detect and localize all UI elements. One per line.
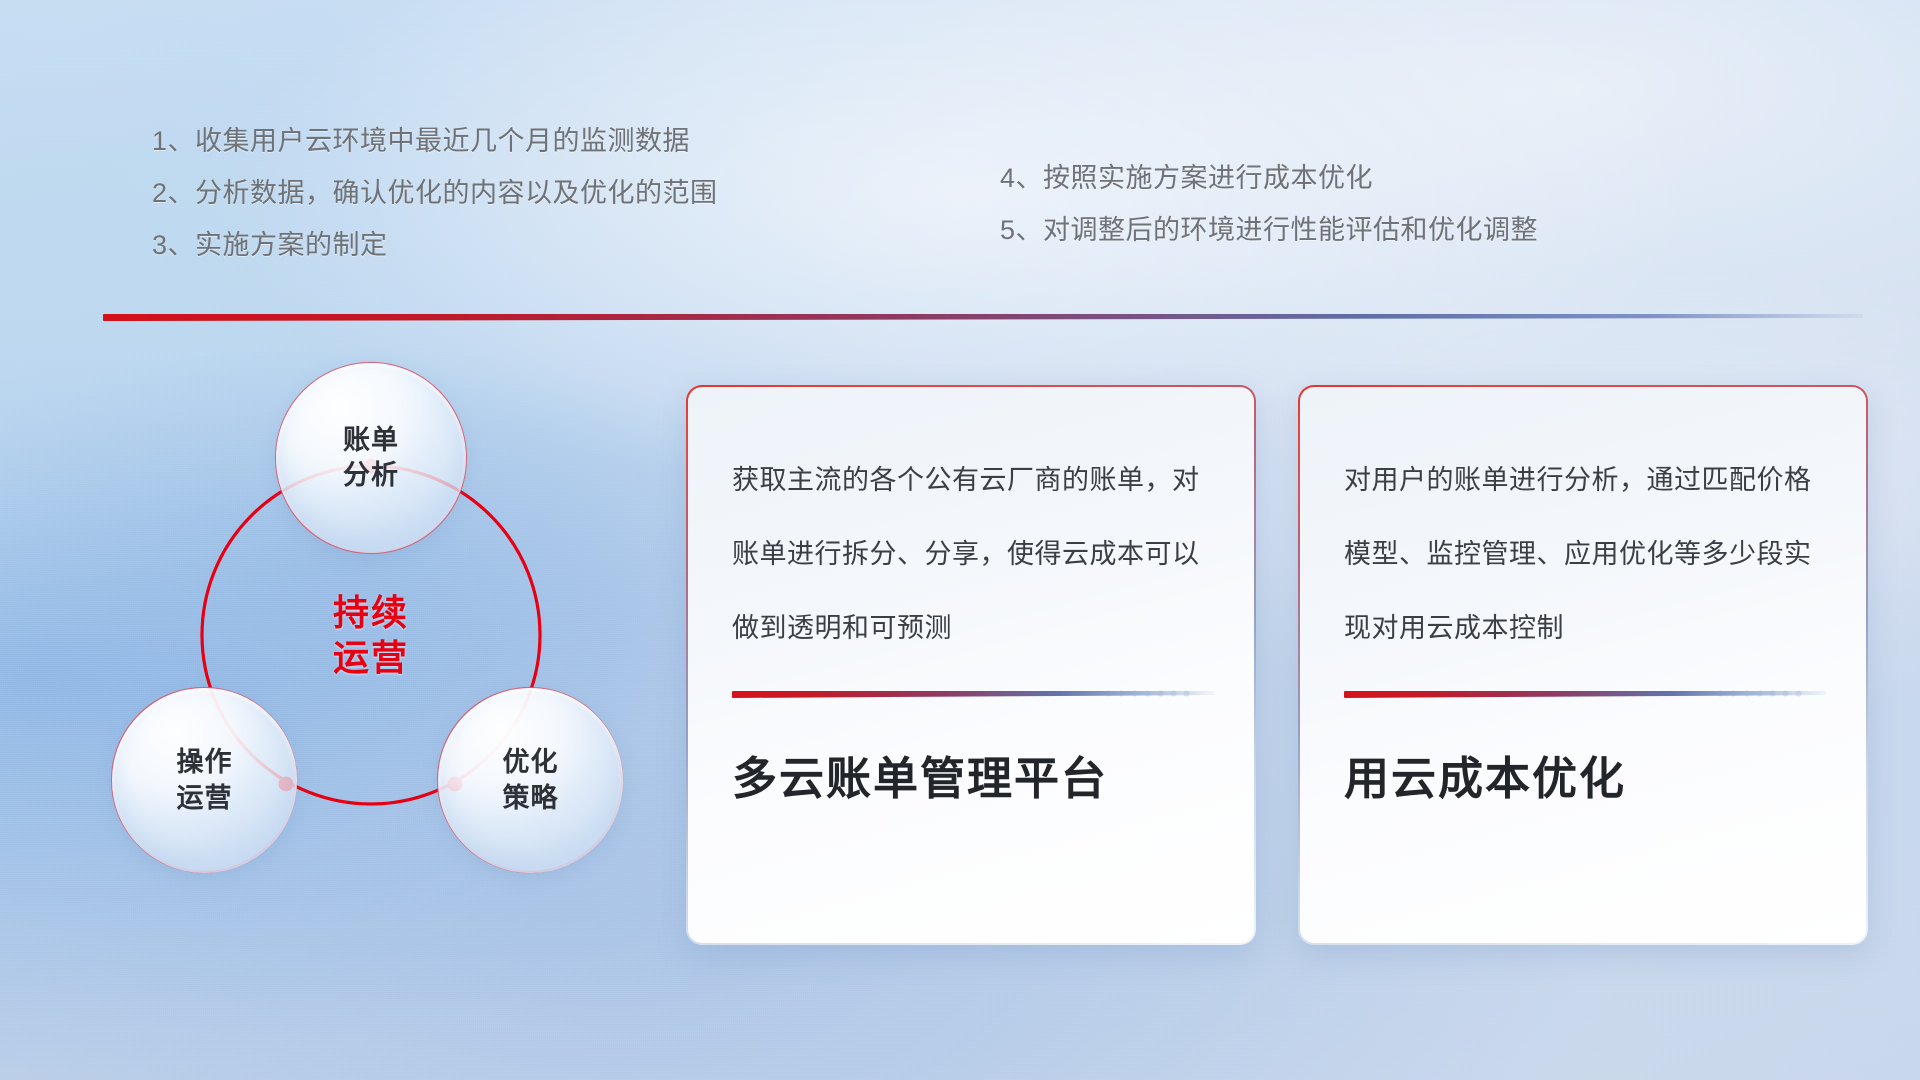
step-item-3: 3、实施方案的制定 bbox=[152, 219, 718, 271]
venn-bubble-billing-analysis[interactable]: 账单分析 bbox=[276, 363, 466, 553]
info-card-2-title: 用云成本优化 bbox=[1344, 742, 1822, 807]
info-card-2-inner: 对用户的账单进行分析，通过匹配价格模型、监控管理、应用优化等多少段实现对用云成本… bbox=[1300, 387, 1866, 943]
venn-bubble-top-label: 账单分析 bbox=[343, 423, 399, 493]
step-item-5: 5、对调整后的环境进行性能评估和优化调整 bbox=[1000, 204, 1538, 256]
info-card-1-description: 获取主流的各个公有云厂商的账单，对账单进行拆分、分享，使得云成本可以做到透明和可… bbox=[732, 443, 1210, 665]
info-card-cloud-cost-optimization[interactable]: 对用户的账单进行分析，通过匹配价格模型、监控管理、应用优化等多少段实现对用云成本… bbox=[1298, 385, 1868, 945]
info-card-1-title: 多云账单管理平台 bbox=[732, 742, 1210, 807]
step-item-4: 4、按照实施方案进行成本优化 bbox=[1000, 152, 1538, 204]
venn-bubble-bottom-right-label: 优化策略 bbox=[503, 745, 559, 815]
venn-center-text: 持续运营 bbox=[333, 590, 409, 681]
step-item-1: 1、收集用户云环境中最近几个月的监测数据 bbox=[152, 115, 718, 167]
venn-center-label: 持续运营 bbox=[278, 570, 464, 700]
info-card-2-description: 对用户的账单进行分析，通过匹配价格模型、监控管理、应用优化等多少段实现对用云成本… bbox=[1344, 443, 1822, 665]
steps-right-column: 4、按照实施方案进行成本优化 5、对调整后的环境进行性能评估和优化调整 bbox=[1000, 152, 1538, 256]
venn-bubble-optimization-strategy[interactable]: 优化策略 bbox=[438, 688, 623, 873]
info-card-multicloud-billing[interactable]: 获取主流的各个公有云厂商的账单，对账单进行拆分、分享，使得云成本可以做到透明和可… bbox=[686, 385, 1256, 945]
venn-bubble-bottom-left-label: 操作运营 bbox=[177, 745, 233, 815]
step-item-2: 2、分析数据，确认优化的内容以及优化的范围 bbox=[152, 167, 718, 219]
venn-diagram: 账单分析 操作运营 优化策略 持续运营 bbox=[100, 350, 640, 960]
venn-bubble-operations[interactable]: 操作运营 bbox=[112, 688, 297, 873]
steps-left-column: 1、收集用户云环境中最近几个月的监测数据 2、分析数据，确认优化的内容以及优化的… bbox=[152, 115, 718, 271]
info-card-1-inner: 获取主流的各个公有云厂商的账单，对账单进行拆分、分享，使得云成本可以做到透明和可… bbox=[688, 387, 1254, 943]
